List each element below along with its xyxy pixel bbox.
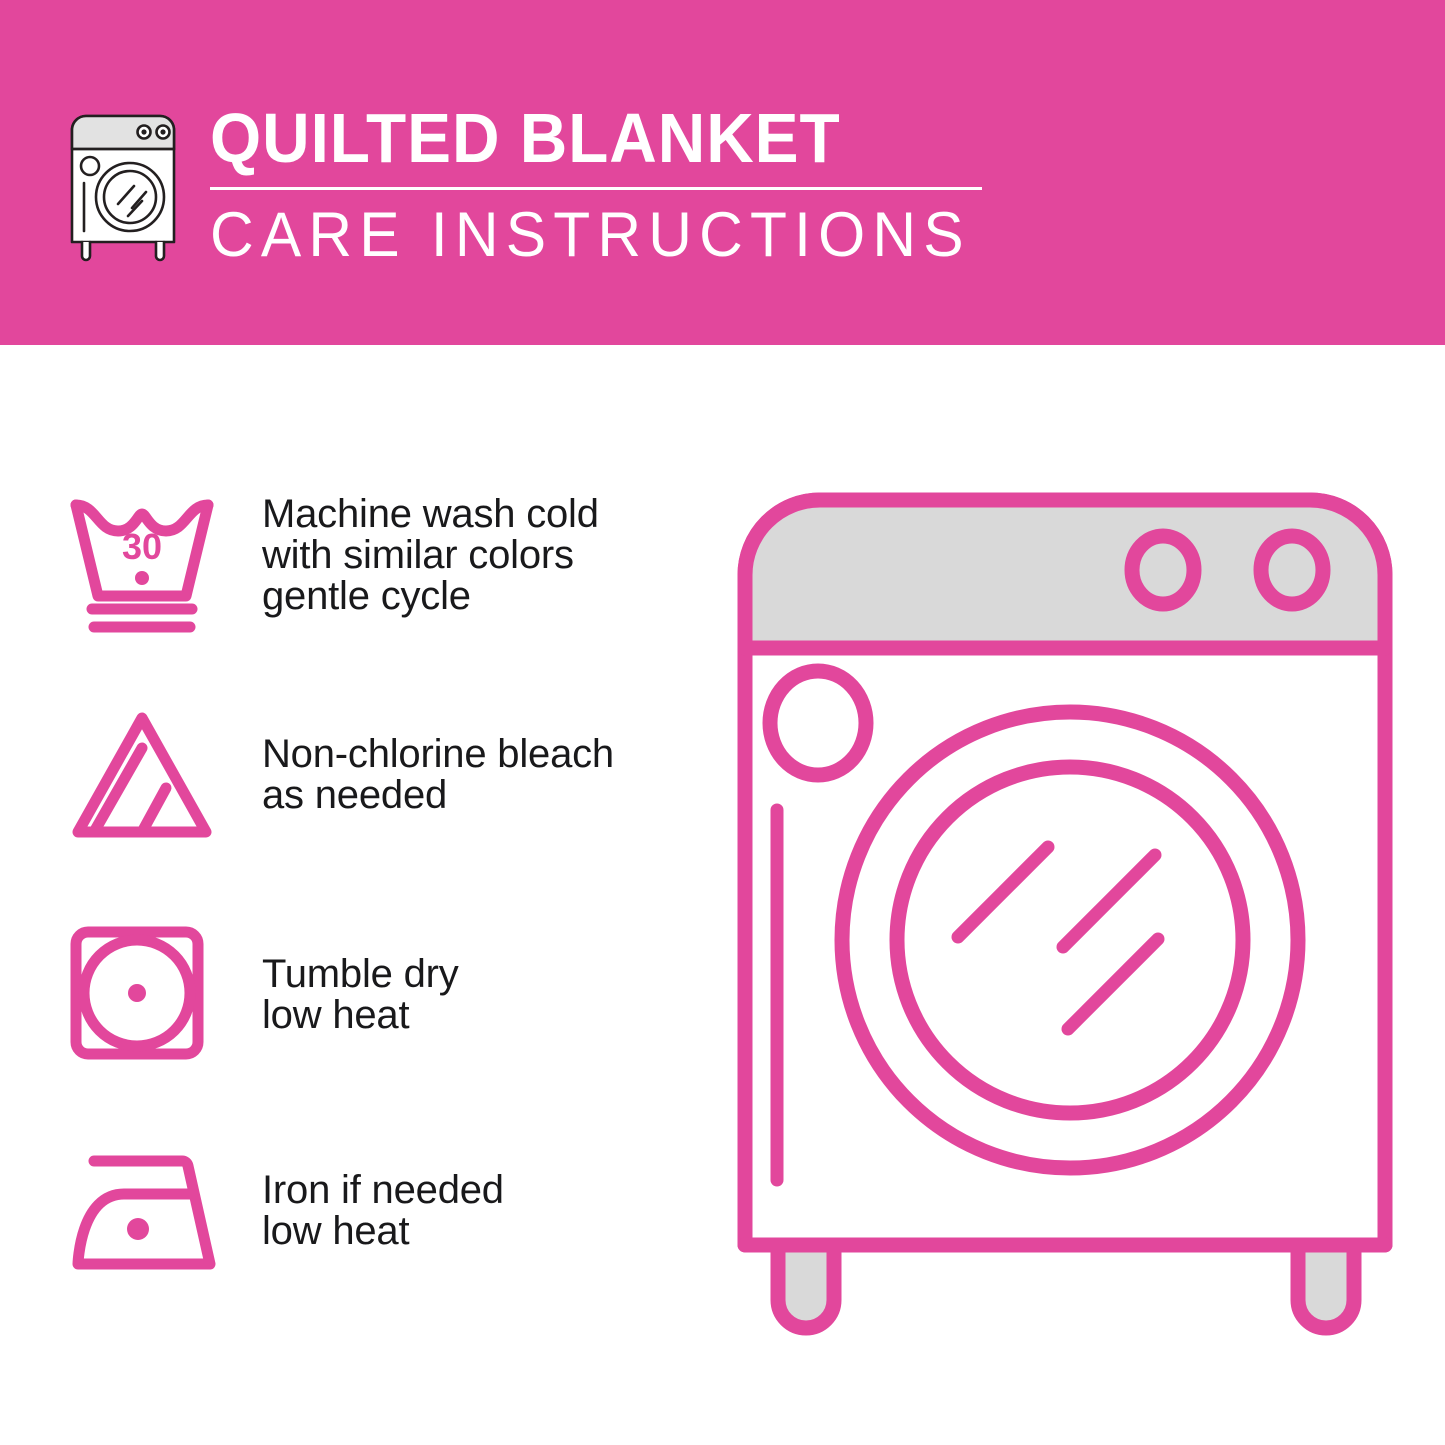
machine-indicator-light: [770, 671, 866, 775]
care-text-bleach: Non-chlorine bleach as needed: [262, 696, 614, 816]
care-text-line: as needed: [262, 775, 614, 816]
iron-icon: [62, 1128, 262, 1286]
care-text-iron: Iron if needed low heat: [262, 1128, 504, 1252]
machine-knob-right: [1261, 536, 1323, 604]
care-row-iron: Iron if needed low heat: [62, 1128, 682, 1344]
care-text-line: with similar colors: [262, 535, 599, 576]
bleach-triangle-icon: [62, 696, 262, 854]
wash-temperature-label: 30: [122, 526, 162, 567]
care-text-line: Iron if needed: [262, 1170, 504, 1211]
care-row-tumble-dry: Tumble dry low heat: [62, 912, 682, 1128]
tumble-dry-dot-icon: [128, 984, 146, 1002]
washing-machine-icon: [58, 104, 188, 264]
care-text-line: Non-chlorine bleach: [262, 734, 614, 775]
title-divider: [210, 187, 982, 190]
wash-tub-icon: 30: [62, 480, 262, 638]
machine-knob-left: [1132, 536, 1194, 604]
care-row-wash: 30 Machine wash cold with similar colors…: [62, 480, 682, 696]
care-instruction-list: 30 Machine wash cold with similar colors…: [62, 480, 682, 1344]
header-content: QUILTED BLANKET CARE INSTRUCTIONS: [58, 96, 1003, 270]
page-subtitle: CARE INSTRUCTIONS: [210, 200, 971, 270]
care-row-bleach: Non-chlorine bleach as needed: [62, 696, 682, 912]
care-text-tumble-dry: Tumble dry low heat: [262, 912, 459, 1036]
header-title-group: QUILTED BLANKET CARE INSTRUCTIONS: [210, 96, 1003, 270]
care-text-line: low heat: [262, 1211, 504, 1252]
page-title: QUILTED BLANKET: [210, 100, 955, 176]
machine-leg-right: [1298, 1245, 1354, 1328]
wash-dot-icon: [135, 571, 149, 585]
washing-machine-illustration: [715, 470, 1415, 1360]
tumble-dry-icon: [62, 912, 262, 1070]
care-text-line: Machine wash cold: [262, 494, 599, 535]
main-content: 30 Machine wash cold with similar colors…: [0, 345, 1445, 1445]
care-text-wash: Machine wash cold with similar colors ge…: [262, 480, 599, 617]
iron-dot-icon: [127, 1218, 149, 1240]
care-text-line: Tumble dry: [262, 954, 459, 995]
header-banner: QUILTED BLANKET CARE INSTRUCTIONS: [0, 0, 1445, 345]
machine-leg-left: [778, 1245, 834, 1328]
care-text-line: low heat: [262, 995, 459, 1036]
care-text-line: gentle cycle: [262, 576, 599, 617]
